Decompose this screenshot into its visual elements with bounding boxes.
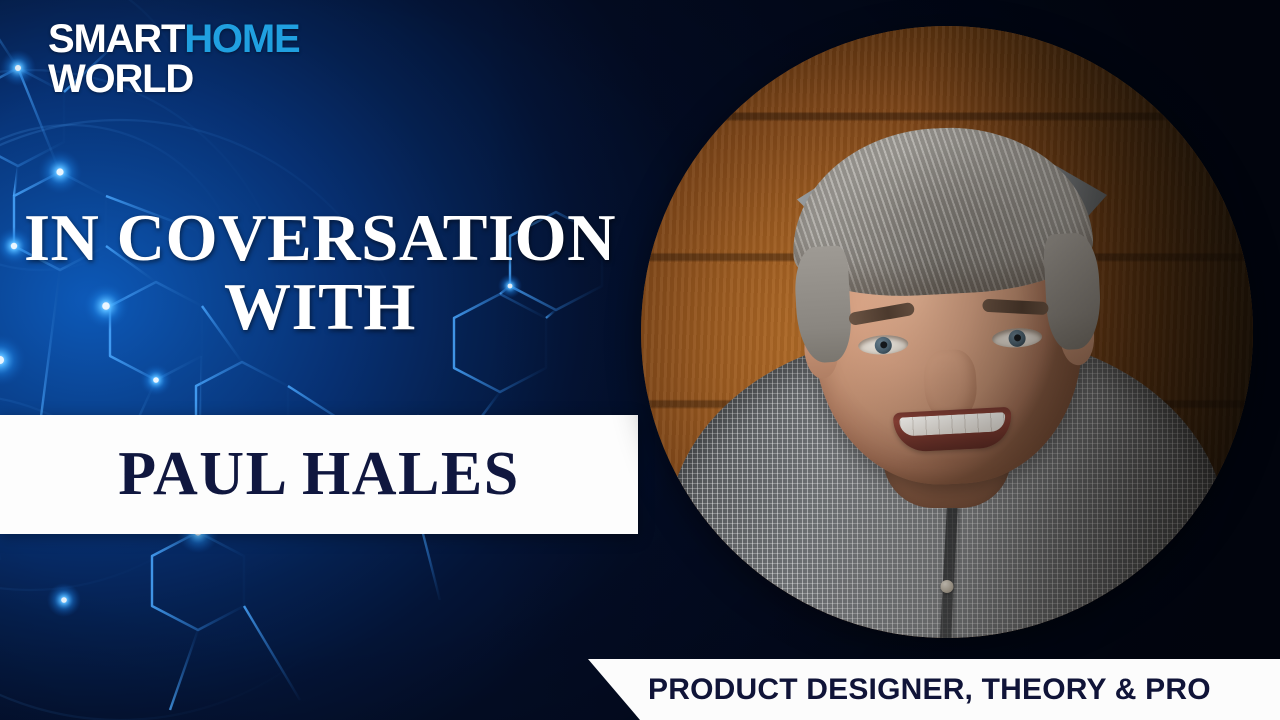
logo-text-home: HOME <box>184 17 299 61</box>
title-line-two: WITH <box>0 273 640 342</box>
logo-line-one: SMARTHOME <box>48 20 299 58</box>
guest-portrait <box>641 26 1253 638</box>
page-title: IN COVERSATION WITH <box>0 204 640 342</box>
guest-name-banner: PAUL HALES <box>0 415 638 534</box>
portrait-shading <box>641 26 1253 638</box>
logo-text-world: WORLD <box>48 60 299 98</box>
guest-role: PRODUCT DESIGNER, THEORY & PRO <box>648 673 1211 707</box>
brand-logo[interactable]: SMARTHOME WORLD <box>48 20 299 99</box>
logo-text-smart: SMART <box>48 17 184 61</box>
title-line-one: IN COVERSATION <box>0 204 640 273</box>
guest-role-banner: PRODUCT DESIGNER, THEORY & PRO <box>588 659 1280 720</box>
guest-name: PAUL HALES <box>118 439 519 510</box>
title-card: SMARTHOME WORLD IN COVERSATION WITH PAUL… <box>0 0 1280 720</box>
